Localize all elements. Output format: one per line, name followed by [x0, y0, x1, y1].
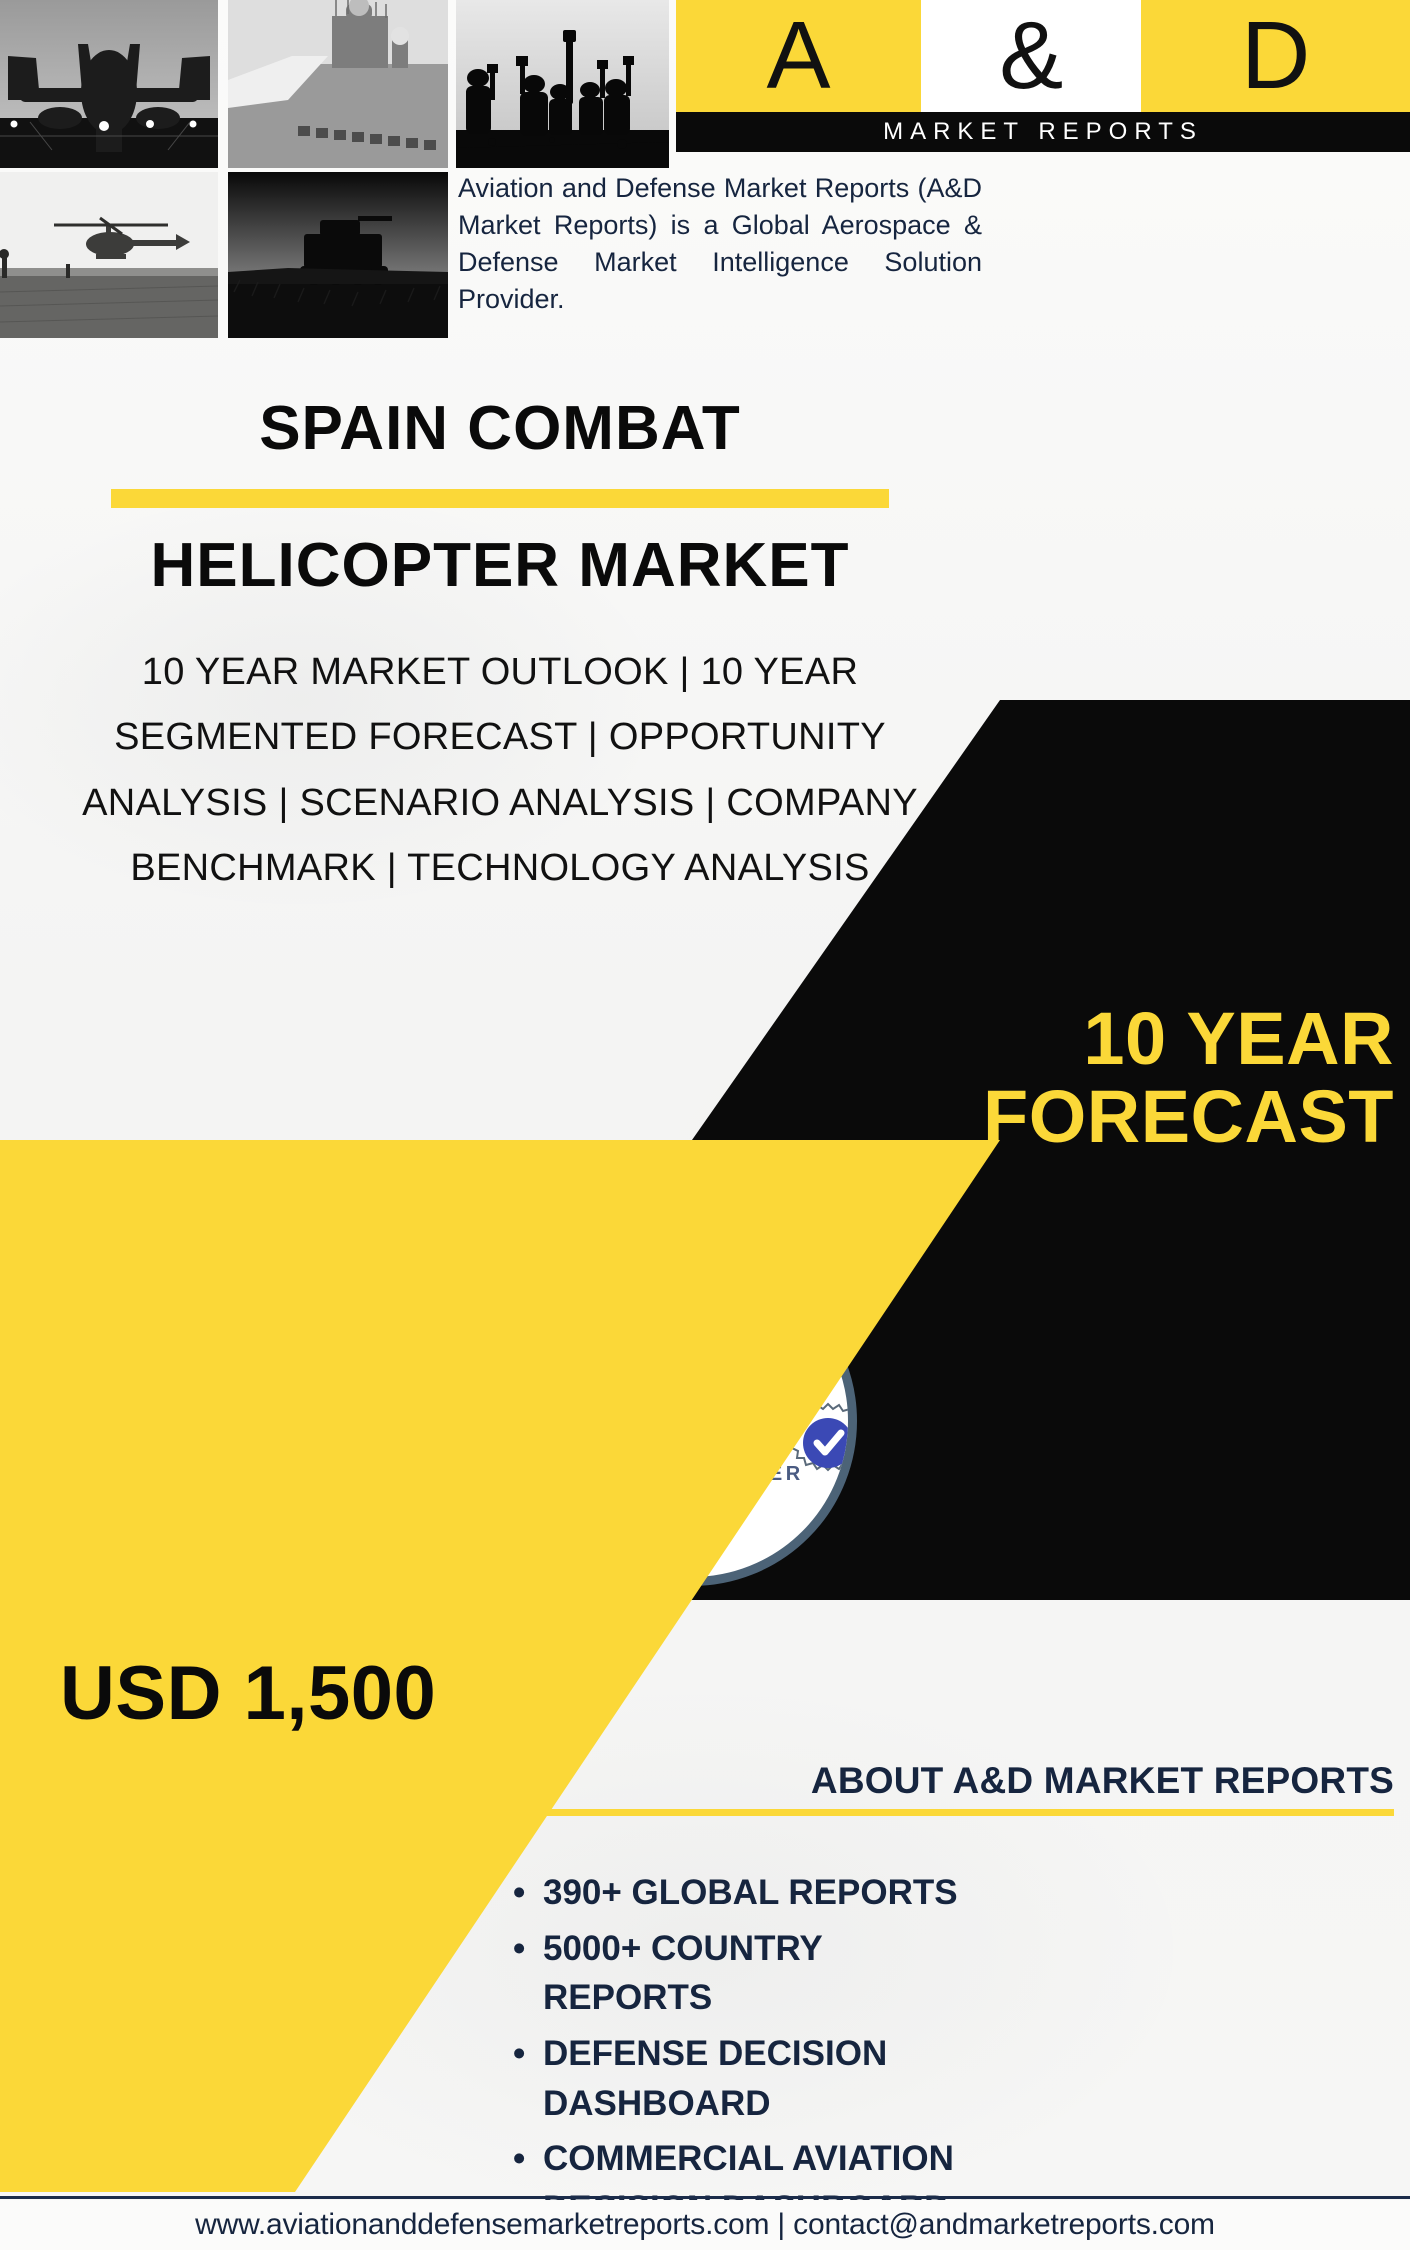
bullet-icon: •: [513, 2029, 525, 2079]
about-bullet-item: • DEFENSE DECISION DASHBOARD: [513, 2029, 983, 2128]
bullet-icon: •: [513, 1868, 525, 1918]
footer-divider: [0, 2196, 1410, 2199]
logo-tile-ampersand: &: [921, 0, 1141, 112]
photo-armored-vehicle: [228, 172, 448, 338]
forecast-line-1: 10 YEAR: [834, 1000, 1394, 1078]
photo-helicopter: [0, 172, 218, 338]
company-description: Aviation and Defense Market Reports (A&D…: [458, 170, 982, 318]
report-title: SPAIN COMBAT HELICOPTER MARKET: [0, 395, 1000, 600]
logo-tagline-bar: MARKET REPORTS: [676, 112, 1410, 152]
logo-letter-a: A: [767, 8, 831, 104]
about-bullet-list: • 390+ GLOBAL REPORTS • 5000+ COUNTRY RE…: [458, 1868, 1394, 2234]
brand-logo: A & D MARKET REPORTS: [676, 0, 1410, 152]
report-cover-poster: A & D MARKET REPORTS Aviation and Defens…: [0, 0, 1410, 2250]
photo-aircraft-carrier: [228, 0, 448, 168]
report-subtitle: 10 YEAR MARKET OUTLOOK | 10 YEAR SEGMENT…: [30, 640, 970, 901]
logo-letter-ampersand: &: [999, 8, 1063, 104]
about-section: ABOUT A&D MARKET REPORTS • 390+ GLOBAL R…: [458, 1760, 1394, 2240]
photo-grid: [0, 0, 448, 338]
title-line-2: HELICOPTER MARKET: [0, 532, 1000, 600]
about-heading-underline: [476, 1809, 1394, 1816]
footer-contact: www.aviationanddefensemarketreports.com …: [0, 2200, 1410, 2250]
logo-tagline-text: MARKET REPORTS: [883, 118, 1203, 146]
about-bullet-item: • 5000+ COUNTRY REPORTS: [513, 1924, 983, 2023]
about-bullet-item: • 390+ GLOBAL REPORTS: [513, 1868, 983, 1918]
about-bullet-text: DEFENSE DECISION DASHBOARD: [543, 2034, 887, 2123]
title-line-1: SPAIN COMBAT: [0, 395, 1000, 463]
about-bullet-text: 5000+ COUNTRY REPORTS: [543, 1929, 822, 2018]
title-divider-rule: [111, 489, 889, 508]
logo-letter-row: A & D: [676, 0, 1410, 112]
about-heading: ABOUT A&D MARKET REPORTS: [458, 1760, 1394, 1802]
logo-letter-d: D: [1241, 8, 1310, 104]
logo-tile-a: A: [676, 0, 921, 112]
photo-soldiers: [456, 0, 669, 168]
forecast-banner: 10 YEAR FORECAST: [834, 1000, 1394, 1157]
about-bullet-text: 390+ GLOBAL REPORTS: [543, 1873, 958, 1912]
bullet-icon: •: [513, 2134, 525, 2184]
bullet-icon: •: [513, 1924, 525, 1974]
photo-fighter-jet: [0, 0, 218, 168]
logo-tile-d: D: [1141, 0, 1410, 112]
price-value: USD 1,500: [60, 1650, 436, 1737]
